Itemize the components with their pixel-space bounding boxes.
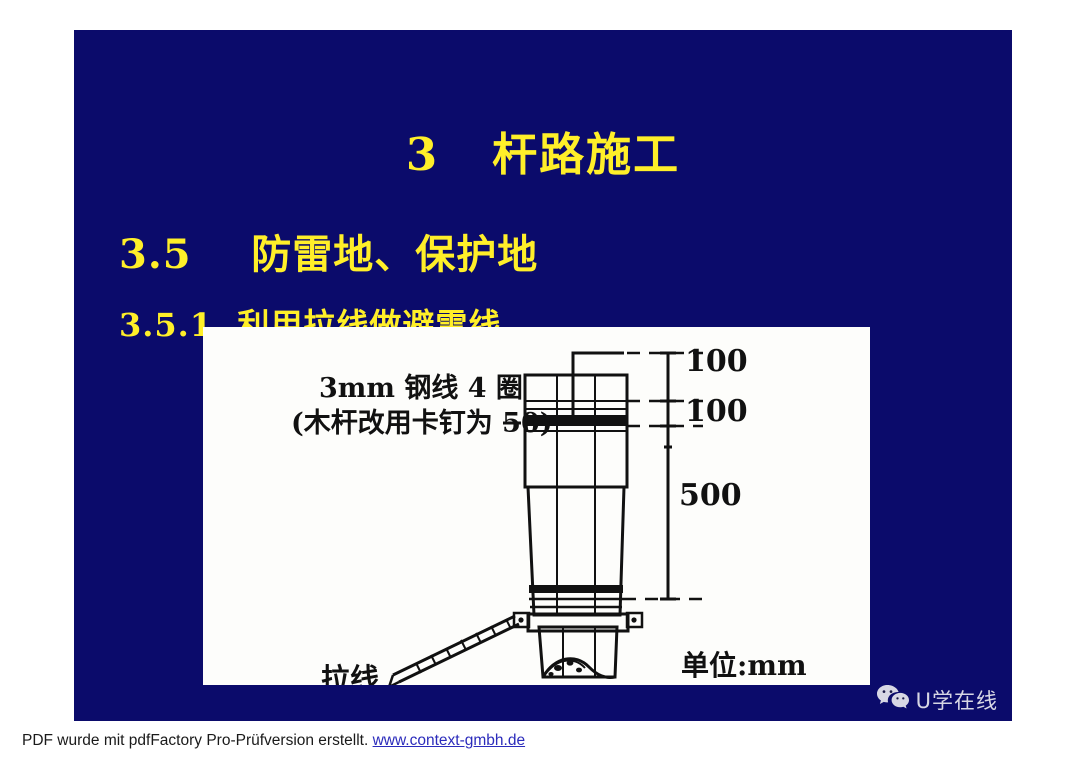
- dimension-label-mid: 100: [685, 394, 748, 429]
- watermark-label: U学在线: [916, 685, 998, 715]
- dimension-label-top: 100: [685, 344, 748, 379]
- dimension-extension-lines: [623, 353, 703, 599]
- pole-lightning-protection-diagram: 100 100 500 3mm 钢线 4 圈 (木杆改用卡钉为 50) 拉线 单…: [203, 327, 870, 685]
- pdf-footer-notice: PDF wurde mit pdfFactory Pro-Prüfversion…: [22, 732, 525, 750]
- guy-wire: [389, 616, 519, 685]
- lower-binding-bands: [529, 585, 623, 607]
- ground-soil: [543, 659, 615, 678]
- footer-text: PDF wurde mit pdfFactory Pro-Prüfversion…: [22, 732, 373, 749]
- wechat-bubbles-icon: [876, 684, 910, 715]
- presentation-slide: 3 杆路施工 3.5 防雷地、保护地 3.5.1 利用拉线做避雷线: [74, 30, 1012, 721]
- section-heading: 3.5 防雷地、保护地: [119, 222, 538, 280]
- watermark: U学在线: [876, 684, 998, 715]
- footer-url-link[interactable]: www.context-gmbh.de: [373, 732, 526, 749]
- unit-label: 单位:mm: [681, 649, 807, 682]
- dimension-label-lower: 500: [679, 478, 742, 513]
- figure-panel: 100 100 500 3mm 钢线 4 圈 (木杆改用卡钉为 50) 拉线 单…: [203, 327, 870, 685]
- dimension-lines: [660, 353, 676, 599]
- riser-wire: [573, 353, 624, 422]
- slide-title: 3 杆路施工: [74, 118, 1012, 183]
- wire-spec-label-line1: 3mm 钢线 4 圈: [319, 373, 523, 404]
- guy-wire-label: 拉线: [321, 662, 379, 685]
